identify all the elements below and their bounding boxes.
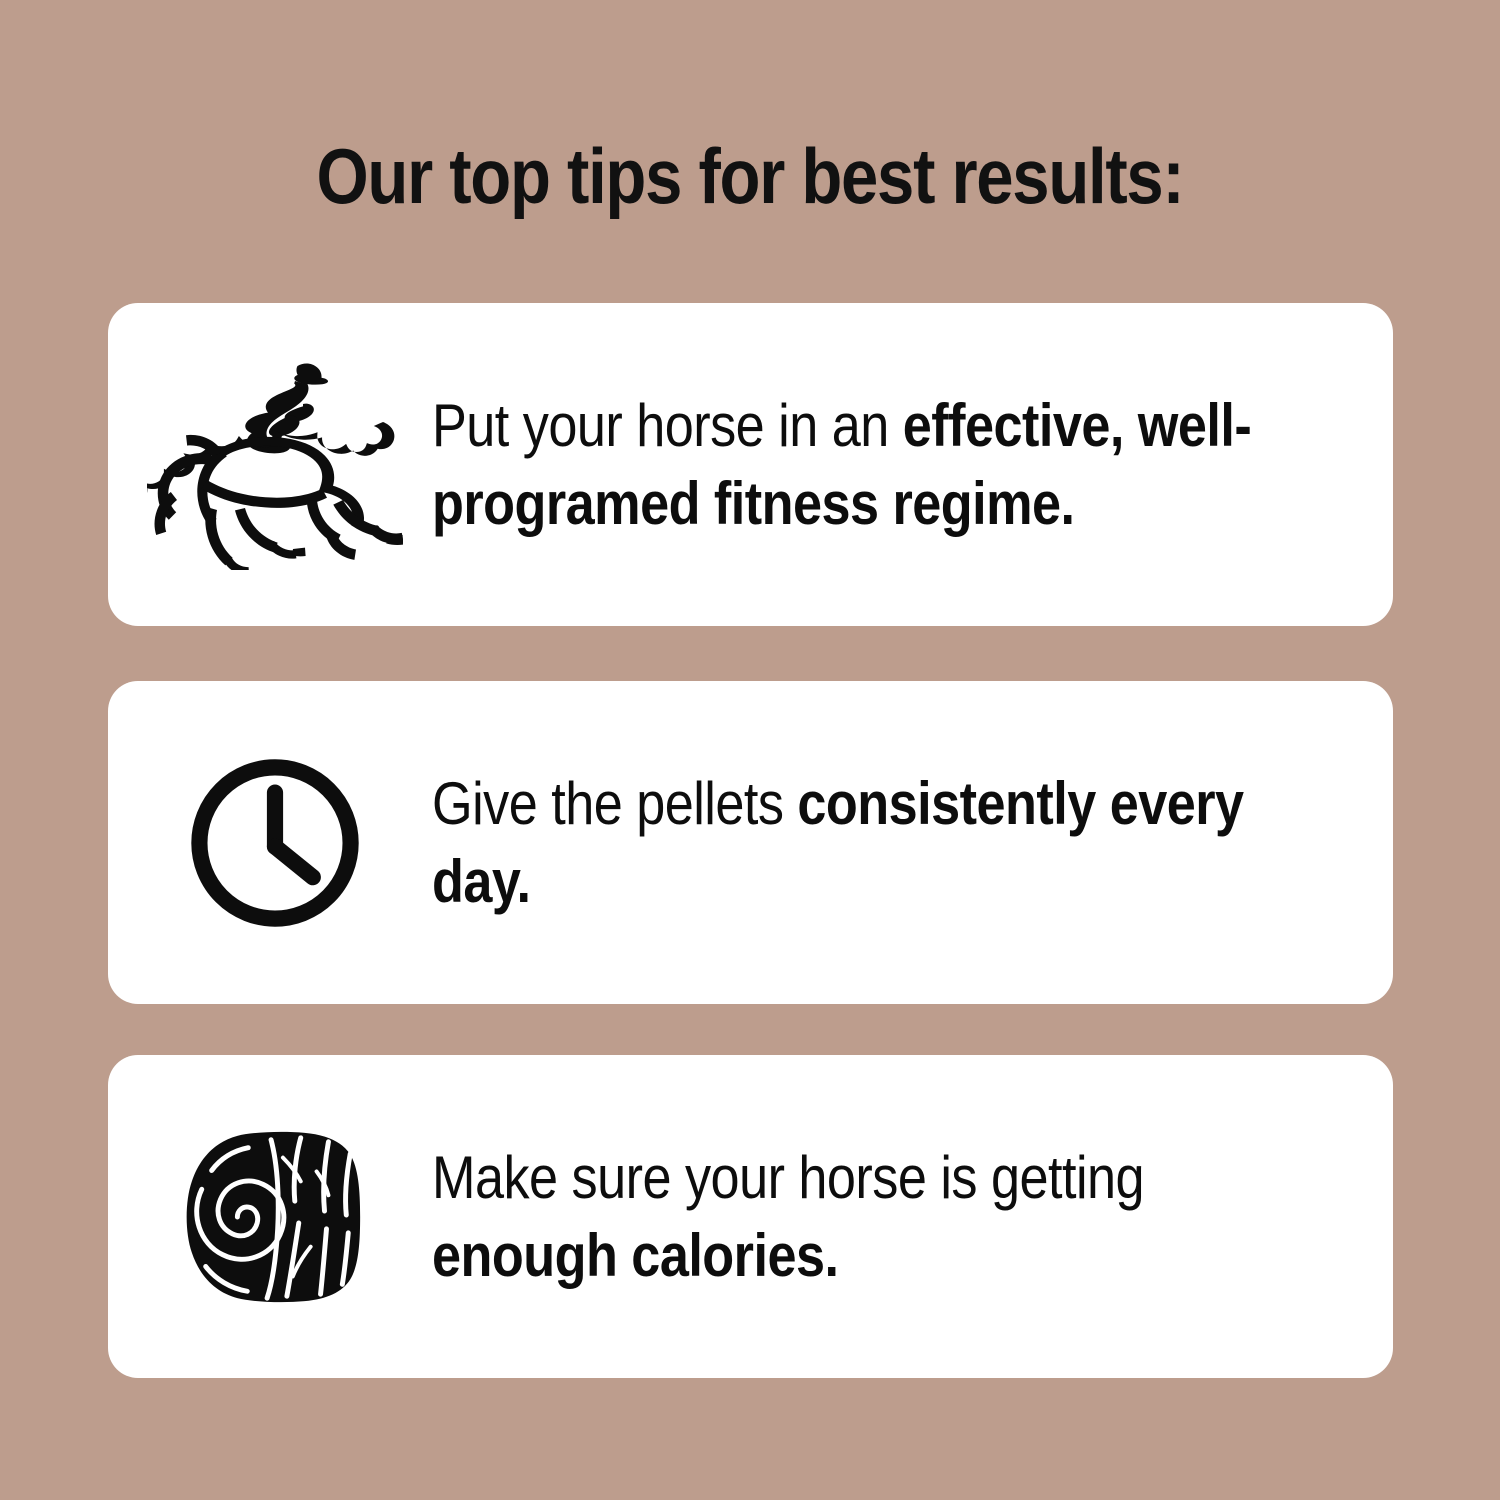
tip-text-1-normal: Put your horse in an: [432, 392, 903, 459]
tip-text-1: Put your horse in an effective, well-pro…: [432, 387, 1268, 543]
clock-icon: [130, 753, 420, 933]
page-title: Our top tips for best results:: [105, 130, 1395, 222]
tip-text-3-bold: enough calories.: [432, 1222, 838, 1289]
hay-bale-icon: [130, 1127, 420, 1307]
tip-text-3-normal: Make sure your horse is getting: [432, 1144, 1144, 1211]
tip-text-2-normal: Give the pellets: [432, 770, 797, 837]
tip-card-2: Give the pellets consistently every day.: [108, 681, 1393, 1004]
tip-card-1: Put your horse in an effective, well-pro…: [108, 303, 1393, 626]
tip-text-2: Give the pellets consistently every day.: [432, 765, 1268, 921]
tips-infographic: Our top tips for best results:: [0, 0, 1500, 1500]
horse-rider-icon: [130, 360, 420, 570]
tip-card-3: Make sure your horse is getting enough c…: [108, 1055, 1393, 1378]
tip-text-3: Make sure your horse is getting enough c…: [432, 1139, 1268, 1295]
